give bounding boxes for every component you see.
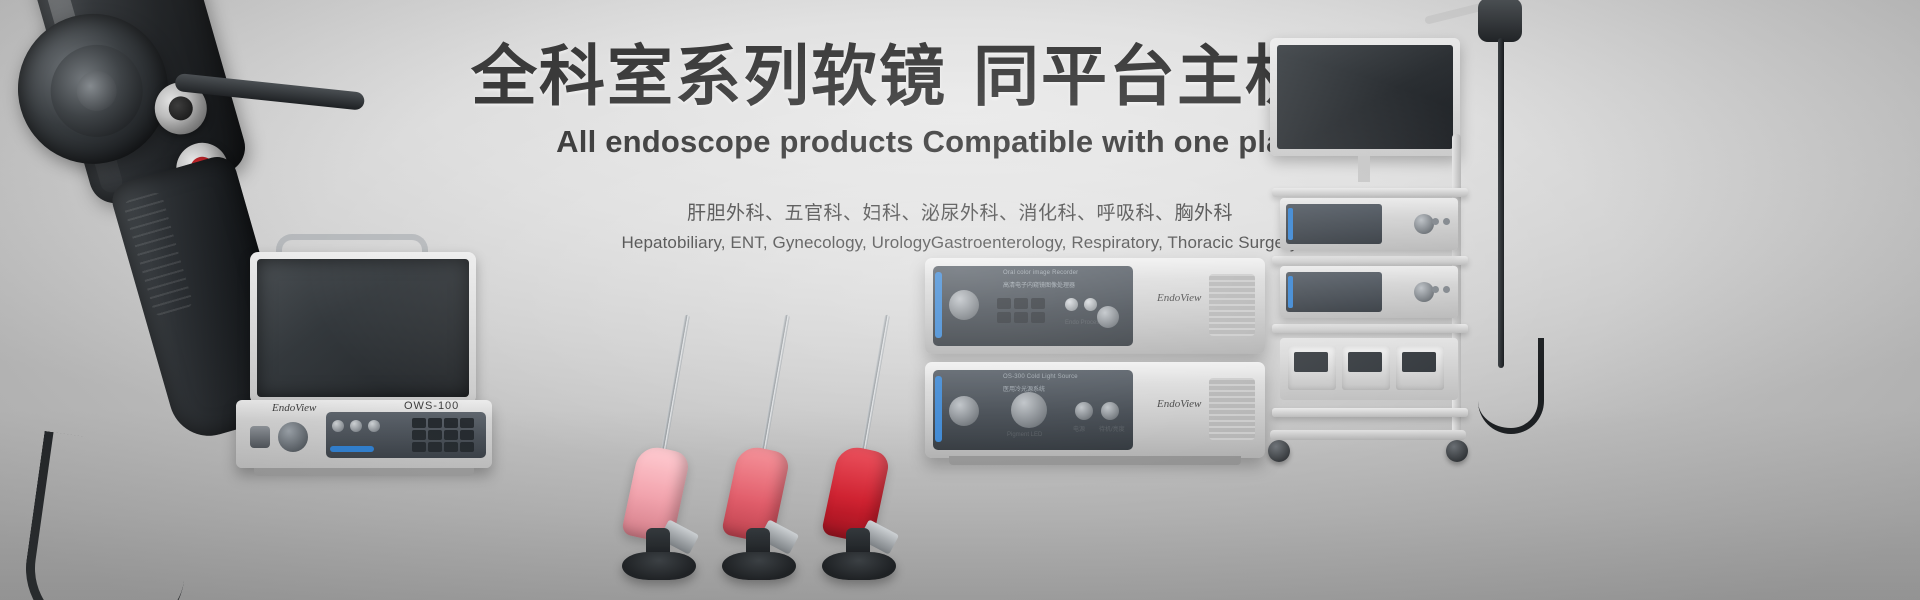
cart-device-1 (1280, 198, 1458, 250)
ows-accent-stripe (330, 446, 374, 452)
cart-shelf-3 (1272, 324, 1468, 333)
cart-caster-right (1446, 440, 1468, 462)
cart-device-2-buttons (1432, 286, 1450, 293)
specialties-chinese: 肝胆外科、五官科、妇科、泌尿外科、消化科、呼吸科、胸外科 (0, 198, 1920, 225)
banner-copy: 全科室系列软镜同平台主机兼容 All endoscope products Co… (0, 40, 1920, 253)
processor-accent-stripe (935, 272, 942, 338)
cart-base-bar (1270, 430, 1466, 440)
cart-device-1-knob (1414, 214, 1434, 234)
headline-part-1: 全科室系列软镜 (471, 38, 947, 115)
cart-device-1-panel (1286, 204, 1382, 244)
instrument-stand-base (822, 552, 896, 580)
lightsource-brand-label: EndoView (1157, 398, 1201, 410)
cart-small-device-1 (1288, 346, 1336, 390)
subheadline: All endoscope products Compatible with o… (0, 124, 1920, 160)
image-processor-unit: Oral color image Recorder 高清电子内窥镜图像处理器 E… (925, 258, 1265, 354)
processor-vent (1209, 274, 1255, 336)
instrument-stand-base (722, 552, 796, 580)
cart-device-2-stripe (1288, 276, 1293, 308)
cart-shelf-4 (1272, 408, 1468, 417)
lightsource-btn2-label: 待机/亮度 (1099, 424, 1125, 433)
processor-secondary-dial (1097, 306, 1119, 328)
ows-feet (254, 468, 474, 476)
cart-monitor-neck (1358, 156, 1370, 182)
ows-display-bezel (250, 252, 476, 404)
cart-hanging-scope-tube (1498, 38, 1504, 368)
cart-device-2-knob (1414, 282, 1434, 302)
processor-label-en: Oral color image Recorder (1003, 270, 1078, 276)
lightsource-button-power (1075, 402, 1093, 420)
cart-hanging-scope-body (1478, 0, 1522, 42)
lightsource-scope-port (949, 396, 979, 426)
cart-small-device-2 (1342, 346, 1390, 390)
ows-processor-unit: EndoView OWS-100 (236, 250, 496, 500)
lightsource-brightness-knob (1011, 392, 1047, 428)
ows-model-label: OWS-100 (404, 400, 459, 412)
cart-monitor-screen (1277, 45, 1453, 149)
cart-device-2-panel (1286, 272, 1382, 312)
product-banner: 全科室系列软镜同平台主机兼容 All endoscope products Co… (0, 0, 1920, 600)
lightsource-accent-stripe (935, 376, 942, 442)
lightsource-btn1-label: 电源 (1073, 424, 1085, 433)
lightsource-vent (1209, 378, 1255, 440)
processor-dial (949, 290, 979, 320)
processor-label-cn: 高清电子内窥镜图像处理器 (1003, 280, 1075, 289)
stack-feet (949, 456, 1241, 465)
rigid-instrument-deep-red (800, 330, 920, 580)
processor-brand-label: EndoView (1157, 292, 1201, 304)
ows-main-knob (278, 422, 308, 452)
cart-small-device-3 (1396, 346, 1444, 390)
lightsource-button-standby (1101, 402, 1119, 420)
processor-keypad (997, 298, 1045, 323)
cart-bottom-tray (1280, 338, 1458, 400)
cart-shelf-1 (1272, 188, 1468, 197)
ows-scope-port (250, 426, 270, 448)
cart-hanging-scope-tip (1478, 338, 1544, 434)
light-source-unit: OS-300 Cold Light Source 医用冷光源系统 Pigment… (925, 362, 1265, 458)
cart-device-1-buttons (1432, 218, 1450, 225)
scope-insertion-tube (17, 431, 202, 600)
cart-shelf-2 (1272, 256, 1468, 265)
headline: 全科室系列软镜同平台主机兼容 (0, 40, 1920, 114)
processor-button-row (1065, 298, 1097, 311)
processor-stack: Oral color image Recorder 高清电子内窥镜图像处理器 E… (925, 258, 1270, 478)
ows-button-row (332, 420, 380, 432)
lightsource-front-text: Pigment LED (1007, 432, 1042, 438)
endoscopy-tower-cart (1292, 38, 1492, 498)
cart-device-1-stripe (1288, 208, 1293, 240)
instrument-stand-base (622, 552, 696, 580)
ows-display-screen (257, 259, 469, 397)
ows-keypad (412, 418, 474, 452)
ows-brand-label: EndoView (272, 402, 316, 414)
cart-monitor (1270, 38, 1460, 156)
lightsource-label-en: OS-300 Cold Light Source (1003, 374, 1078, 380)
cart-caster-left (1268, 440, 1290, 462)
cart-device-2 (1280, 266, 1458, 318)
